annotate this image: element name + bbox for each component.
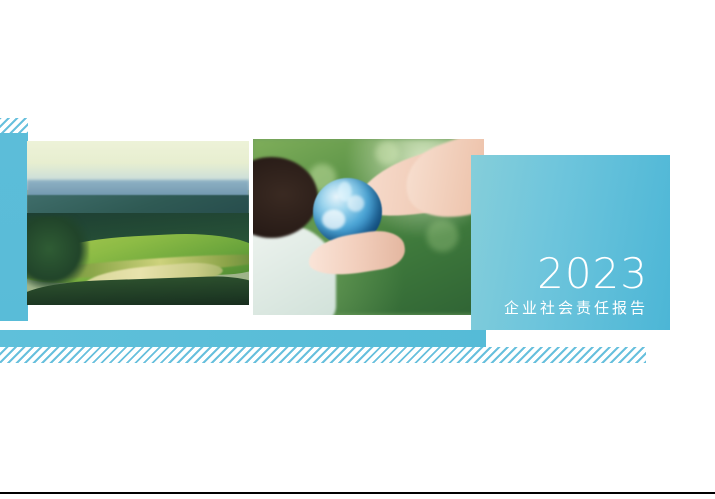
bottom-divider-rule	[0, 492, 715, 494]
title-panel-text-group: 2023 企业社会责任报告	[504, 252, 648, 318]
diagonal-hatch-block-top-left	[0, 118, 28, 134]
photo-child-receiving-globe	[253, 139, 484, 318]
title-panel: 2023 企业社会责任报告	[471, 155, 670, 330]
photo-terraced-green-hillside-landscape	[27, 141, 249, 305]
landscape-tree-layer	[27, 216, 89, 288]
diagonal-hatch-band-bottom	[0, 347, 646, 363]
left-accent-bar	[0, 133, 28, 321]
bottom-accent-bar	[0, 330, 486, 347]
report-year: 2023	[504, 252, 648, 296]
report-title: 企业社会责任报告	[504, 298, 648, 318]
csr-report-cover-slide: 2023 企业社会责任报告	[0, 0, 715, 499]
